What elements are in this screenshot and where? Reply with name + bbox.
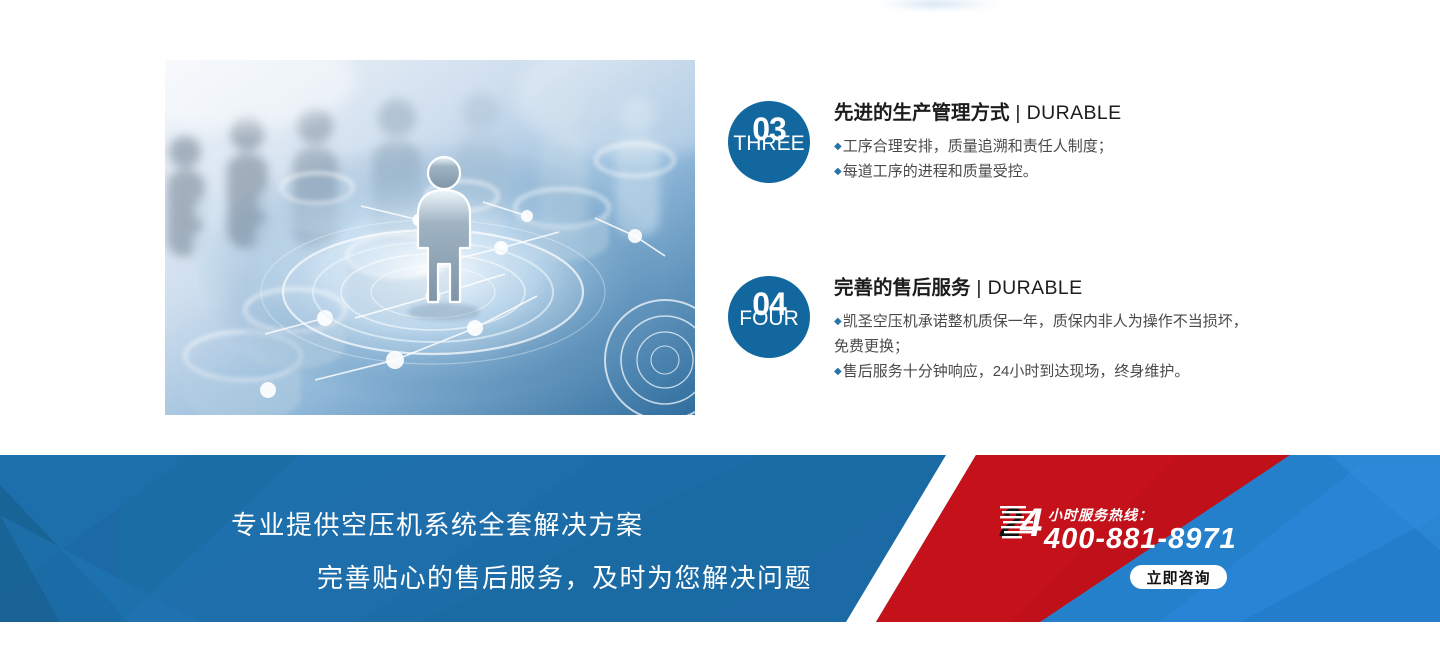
feature-title-sep: | [1010, 102, 1027, 124]
banner-content: 专业提供空压机系统全套解决方案 完善贴心的售后服务，及时为您解决问题 24 小时… [0, 455, 1440, 622]
hotline-block: 24 小时服务热线： 400-881-8971 [1000, 503, 1300, 563]
feature-bullet-item: ◆售后服务十分钟响应，24小时到达现场，终身维护。 [834, 359, 1249, 384]
feature-body: 完善的售后服务 | DURABLE ◆凯圣空压机承诺整机质保一年，质保内非人为操… [834, 276, 1249, 384]
banner-slogan-line-2: 完善贴心的售后服务，及时为您解决问题 [317, 558, 812, 595]
top-edge-artifact [880, 0, 1000, 8]
banner-slogan-line-1: 专业提供空压机系统全套解决方案 [231, 505, 644, 542]
feature-title: 完善的售后服务 | DURABLE [834, 276, 1249, 300]
feature-bullet-text: 每道工序的进程和质量受控。 [843, 163, 1038, 180]
bottom-cta-banner: 专业提供空压机系统全套解决方案 完善贴心的售后服务，及时为您解决问题 24 小时… [0, 455, 1440, 622]
diamond-bullet-icon: ◆ [834, 166, 842, 177]
diamond-bullet-icon: ◆ [834, 141, 842, 152]
hotline-number: 400-881-8971 [1044, 523, 1237, 556]
feature-block-four: 04 FOUR 完善的售后服务 | DURABLE ◆凯圣空压机承诺整机质保一年… [728, 276, 1249, 384]
feature-bullet-item: ◆每道工序的进程和质量受控。 [834, 159, 1254, 184]
feature-bullet-text: 凯圣空压机承诺整机质保一年，质保内非人为操作不当损坏，免费更换； [834, 313, 1248, 355]
feature-title-sep: | [971, 277, 988, 299]
feature-body: 先进的生产管理方式 | DURABLE ◆工序合理安排，质量追溯和责任人制度； … [834, 101, 1254, 184]
feature-bullet-item: ◆工序合理安排，质量追溯和责任人制度； [834, 134, 1254, 159]
network-people-connection-photo [165, 60, 695, 415]
feature-bullet-text: 售后服务十分钟响应，24小时到达现场，终身维护。 [843, 363, 1190, 380]
feature-title-cn: 完善的售后服务 [834, 277, 971, 299]
diamond-bullet-icon: ◆ [834, 366, 842, 377]
feature-title-en: DURABLE [1027, 102, 1122, 124]
feature-bullet-item: ◆凯圣空压机承诺整机质保一年，质保内非人为操作不当损坏，免费更换； [834, 309, 1249, 359]
feature-title-cn: 先进的生产管理方式 [834, 102, 1010, 124]
consult-now-button[interactable]: 立即咨询 [1130, 565, 1227, 589]
feature-title-en: DURABLE [988, 277, 1083, 299]
feature-block-three: 03 THREE 先进的生产管理方式 | DURABLE ◆工序合理安排，质量追… [728, 101, 1254, 184]
diamond-bullet-icon: ◆ [834, 316, 842, 327]
feature-bullet-text: 工序合理安排，质量追溯和责任人制度； [843, 138, 1113, 155]
feature-title: 先进的生产管理方式 | DURABLE [834, 101, 1254, 125]
badge-three: 03 THREE [728, 101, 810, 183]
hotline-label: 小时服务热线： [1048, 505, 1153, 525]
feature-bullet-list: ◆凯圣空压机承诺整机质保一年，质保内非人为操作不当损坏，免费更换； ◆售后服务十… [834, 309, 1249, 384]
badge-word: THREE [728, 132, 810, 156]
feature-bullet-list: ◆工序合理安排，质量追溯和责任人制度； ◆每道工序的进程和质量受控。 [834, 134, 1254, 184]
badge-word: FOUR [728, 307, 810, 331]
badge-four: 04 FOUR [728, 276, 810, 358]
